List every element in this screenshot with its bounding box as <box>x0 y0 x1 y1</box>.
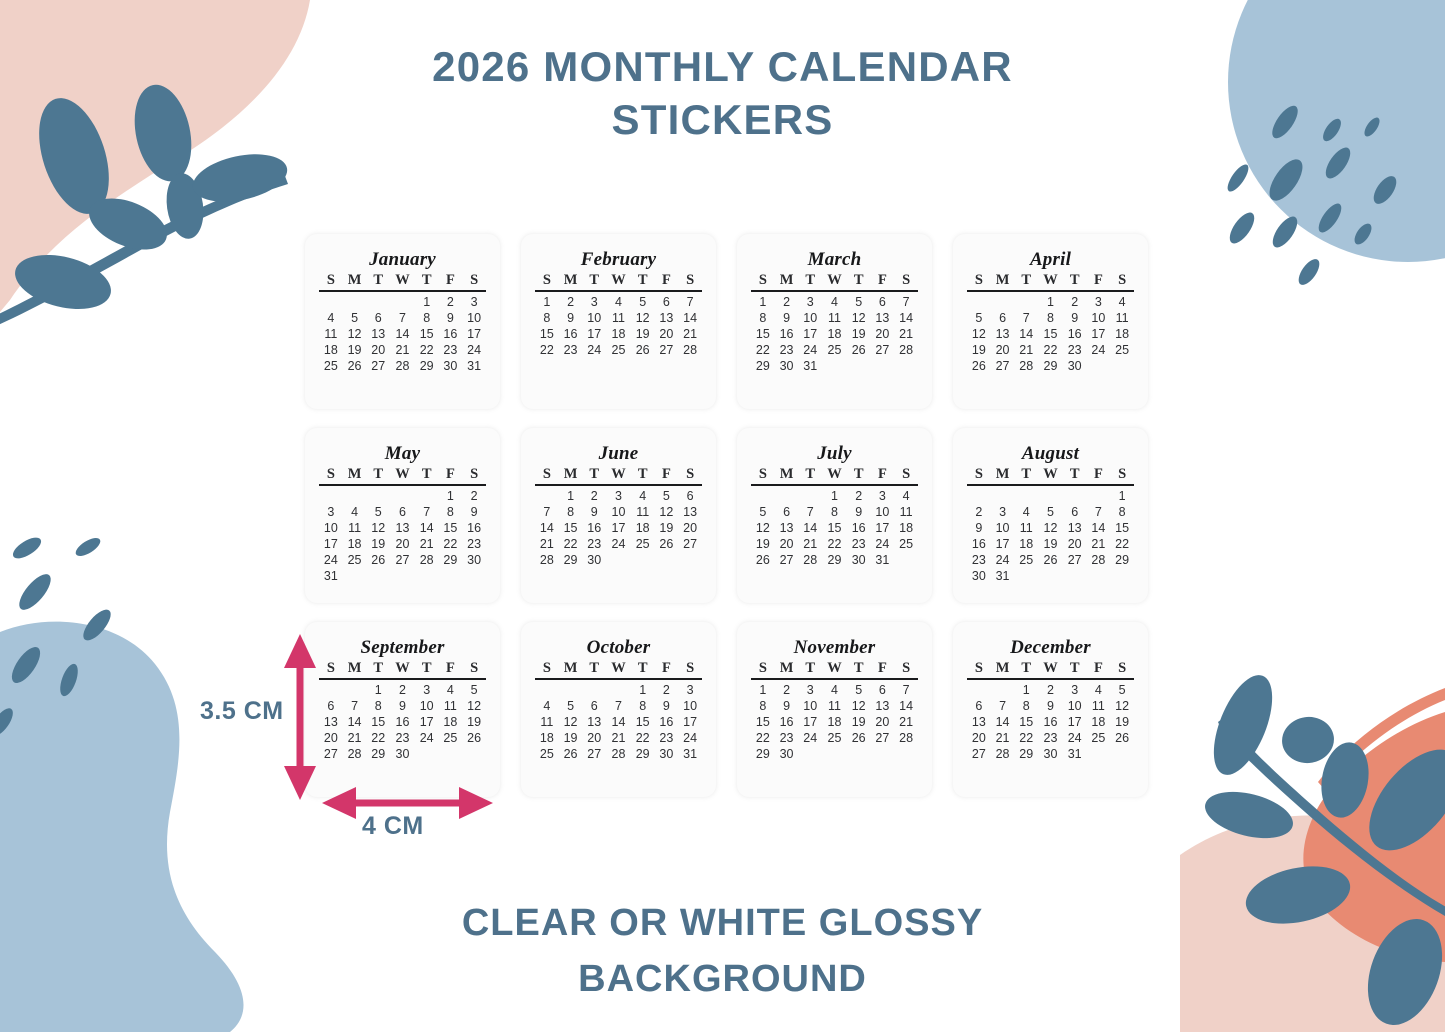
width-arrow-head-left <box>322 787 356 819</box>
poster-canvas: 2026 MONTHLY CALENDAR STICKERS JanuarySM… <box>0 0 1445 1032</box>
footer-line-1: CLEAR OR WHITE GLOSSY <box>0 895 1445 951</box>
height-arrow-head-top <box>284 634 316 668</box>
footer-caption: CLEAR OR WHITE GLOSSY BACKGROUND <box>0 895 1445 1007</box>
width-arrow-head-right <box>459 787 493 819</box>
height-arrow-head-bottom <box>284 766 316 800</box>
dimension-annotations <box>0 0 1445 1032</box>
height-dimension-label: 3.5 CM <box>200 697 284 726</box>
footer-line-2: BACKGROUND <box>0 951 1445 1007</box>
width-dimension-label: 4 CM <box>362 812 424 841</box>
